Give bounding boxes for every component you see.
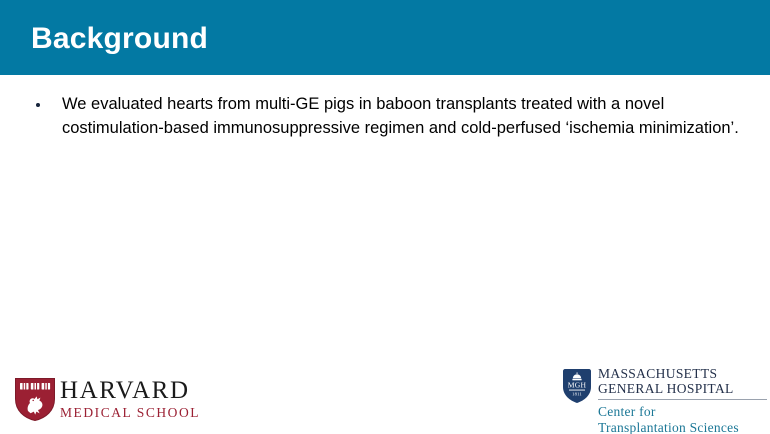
bullet-dot-icon: [36, 103, 40, 107]
page-title: Background: [31, 21, 208, 57]
slide-body: We evaluated hearts from multi-GE pigs i…: [0, 92, 770, 140]
mgh-cts-logo: MGH 1811 MASSACHUSETTS GENERAL HOSPITAL …: [561, 367, 767, 431]
harvard-medical-school-logo: HARVARD MEDICAL SCHOOL: [14, 377, 194, 425]
svg-text:1811: 1811: [572, 391, 582, 396]
svg-text:MGH: MGH: [568, 381, 587, 390]
harvard-wordmark: HARVARD MEDICAL SCHOOL: [60, 377, 194, 421]
logo-divider: [598, 399, 767, 400]
mgh-wordmark-line1: MASSACHUSETTS: [598, 367, 767, 382]
harvard-wordmark-line1: HARVARD: [60, 377, 194, 404]
cts-wordmark-line1: Center for: [598, 404, 767, 420]
bullet-text: We evaluated hearts from multi-GE pigs i…: [62, 92, 748, 140]
harvard-shield-icon: [14, 377, 56, 422]
cts-wordmark-line2: Transplantation Sciences: [598, 420, 767, 434]
list-item: We evaluated hearts from multi-GE pigs i…: [0, 92, 770, 140]
mgh-cts-wordmark: MASSACHUSETTS GENERAL HOSPITAL Center fo…: [598, 367, 767, 434]
slide-header-band: Background: [0, 0, 770, 75]
mgh-wordmark-line2: GENERAL HOSPITAL: [598, 382, 767, 397]
slide: Background We evaluated hearts from mult…: [0, 0, 770, 434]
mgh-shield-icon: MGH 1811: [561, 368, 593, 404]
harvard-wordmark-line2: MEDICAL SCHOOL: [60, 405, 194, 421]
